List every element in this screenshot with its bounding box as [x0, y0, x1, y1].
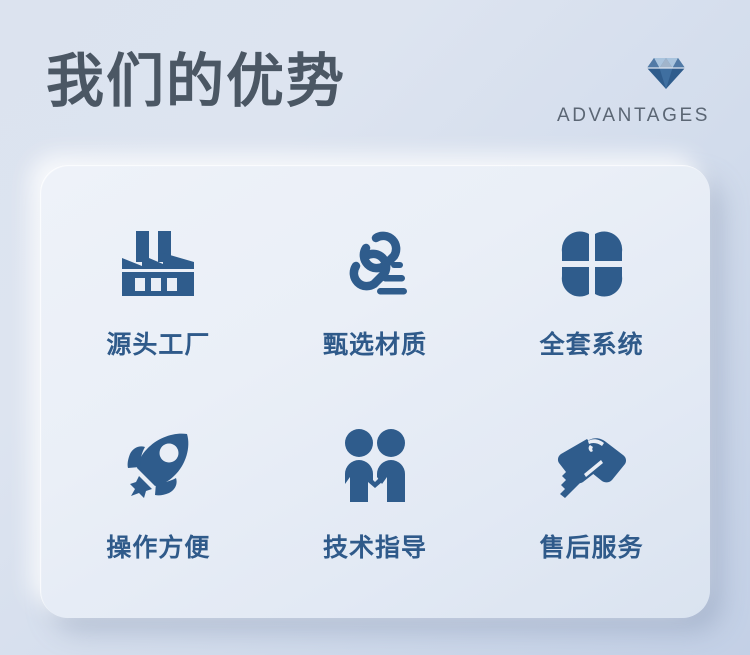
feature-label: 售后服务	[540, 528, 644, 564]
feature-label: 源头工厂	[106, 325, 210, 361]
chain-link-icon	[332, 221, 418, 307]
advantages-card: 源头工厂	[40, 165, 710, 618]
advantages-badge: ADVANTAGES	[530, 55, 710, 127]
page-header: 我们的优势 ADVANTAGES	[0, 0, 750, 165]
features-grid: 源头工厂	[40, 165, 710, 618]
feature-item[interactable]: 技术指导	[267, 393, 484, 597]
two-people-icon	[332, 424, 418, 510]
advantages-page: 我们的优势 ADVANTAGES	[0, 0, 750, 655]
feature-label: 全套系统	[540, 325, 644, 361]
advantages-badge-label: ADVANTAGES	[530, 105, 710, 127]
handshake-icon	[549, 424, 635, 510]
feature-item[interactable]: 全套系统	[483, 189, 700, 393]
feature-label: 技术指导	[323, 528, 427, 564]
rocket-icon	[115, 424, 201, 510]
feature-item[interactable]: 操作方便	[50, 393, 267, 597]
page-title: 我们的优势	[46, 47, 346, 117]
feature-item[interactable]: 售后服务	[483, 393, 700, 597]
feature-label: 甄选材质	[323, 325, 427, 361]
feature-item[interactable]: 源头工厂	[50, 189, 267, 393]
diamond-icon	[646, 55, 686, 91]
feature-label: 操作方便	[106, 528, 210, 564]
factory-icon	[115, 221, 201, 307]
feature-item[interactable]: 甄选材质	[267, 189, 484, 393]
four-petal-clover-icon	[549, 221, 635, 307]
